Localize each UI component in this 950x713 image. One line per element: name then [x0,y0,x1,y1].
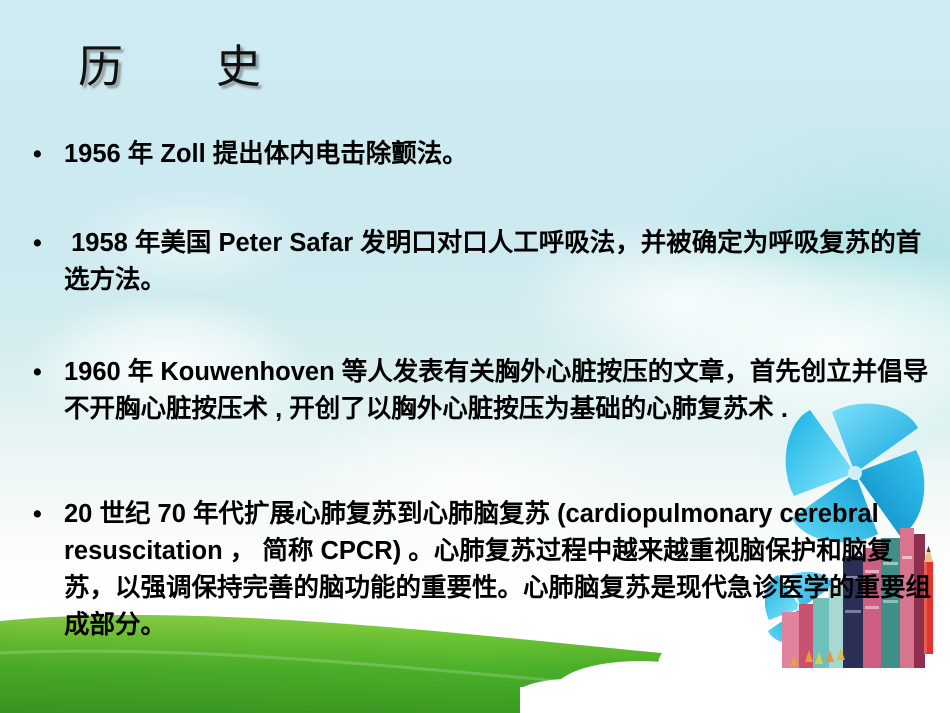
page-title: 历 史 [78,44,262,89]
bullet-item-3: • 1960 年 Kouwenhoven 等人发表有关胸外心脏按压的文章，首先创… [0,354,950,428]
bullet-list: • 1956 年 Zoll 提出体内电击除颤法。 • 1958 年美国 Pete… [0,130,950,644]
bullet-text-3: 1960 年 Kouwenhoven 等人发表有关胸外心脏按压的文章，首先创立并… [64,354,936,428]
slide-canvas: 历 史 • 1956 年 Zoll 提出体内电击除颤法。 • 1958 年美国 … [0,0,950,713]
bullet-marker-icon: • [33,496,42,533]
bullet-item-4: • 20 世纪 70 年代扩展心肺复苏到心肺脑复苏 (cardiopulmona… [0,496,950,644]
bullet-marker-icon: • [33,136,42,173]
bullet-item-2: • 1958 年美国 Peter Safar 发明口对口人工呼吸法，并被确定为呼… [0,225,950,299]
bullet-text-4: 20 世纪 70 年代扩展心肺复苏到心肺脑复苏 (cardiopulmonary… [64,496,936,644]
bullet-text-2: 1958 年美国 Peter Safar 发明口对口人工呼吸法，并被确定为呼吸复… [64,225,936,299]
bullet-text-1: 1956 年 Zoll 提出体内电击除颤法。 [64,136,936,173]
bullet-marker-icon: • [33,354,42,391]
bullet-marker-icon: • [33,225,42,262]
bullet-item-1: • 1956 年 Zoll 提出体内电击除颤法。 [0,136,950,173]
